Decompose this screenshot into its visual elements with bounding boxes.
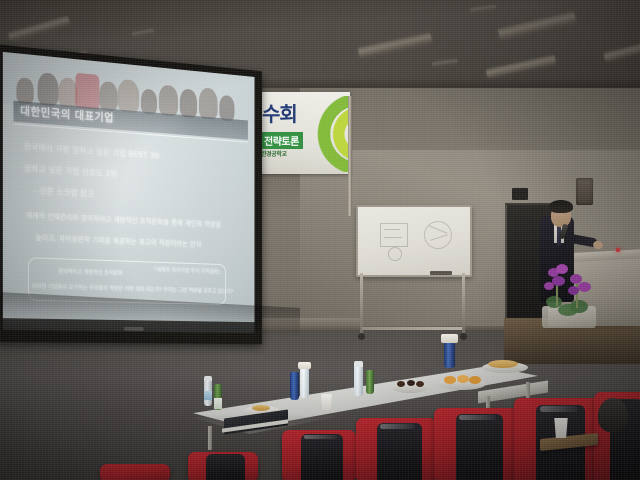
ceiling-light-fixture [486, 55, 556, 78]
slide-body-line: 높이고, 자아실현적 기회를 제공하는 최고의 직장이라는 인식 [36, 233, 202, 250]
seat-highlight [380, 424, 415, 428]
slide-body-line: - 신문 스크랩 참고 [34, 185, 94, 199]
ceiling-light-fixture [432, 58, 458, 67]
water-bottle [300, 368, 309, 398]
chocolate-food [416, 381, 424, 387]
fruit-food [457, 375, 469, 383]
bottle-label [214, 398, 222, 409]
seated-person [598, 398, 628, 432]
seat-headrest [377, 423, 422, 480]
auditorium-seat[interactable] [282, 430, 356, 480]
whiteboard-caster [460, 333, 467, 340]
seat-headrest [301, 434, 342, 480]
slide-body-line: 한국에서 가장 일하고 싶은 기업 BEST 30 [24, 141, 159, 161]
chocolate-food [397, 381, 405, 387]
blue-label-can [290, 372, 299, 400]
ceiling-light-fixture [8, 16, 70, 42]
water-bottle [354, 366, 363, 396]
banner-subtitle: 전략토론 [260, 132, 303, 149]
fruit-food [469, 376, 481, 384]
wall-vent-icon [512, 188, 528, 200]
whiteboard-crossbar [362, 327, 462, 330]
cup-lid [441, 334, 458, 343]
bottle-cap [354, 361, 363, 367]
seat-highlight [459, 415, 496, 420]
slide-body-line: 체계적 인재관리와 창의적이고 개방적인 조직문화를 통해 개인의 역량을 [26, 211, 221, 230]
event-banner: 수회 전략토론 한경공학교 [258, 92, 350, 174]
ceiling-light-fixture [604, 43, 640, 61]
banner-organization: 한경공학교 [261, 149, 287, 158]
table-leg [208, 426, 212, 450]
wall-speaker-icon [576, 178, 593, 205]
slide-body-line: 일하고 싶은 기업 선호도 1위 [24, 163, 117, 180]
whiteboard-leg [462, 273, 465, 335]
seat-highlight [304, 435, 337, 439]
ceiling-light-fixture [470, 4, 496, 13]
seat-headrest [206, 454, 245, 480]
whiteboard-stand [352, 205, 474, 347]
seat-headrest [456, 414, 503, 480]
auditorium-seat[interactable] [100, 464, 170, 480]
auditorium-seat[interactable] [356, 418, 436, 480]
chips-food [488, 360, 518, 368]
ceiling-light-fixture [498, 11, 576, 39]
flower-arrangement [536, 258, 602, 328]
seat-highlight [540, 406, 578, 412]
whiteboard-leg [360, 273, 363, 335]
chips-food [252, 405, 270, 411]
bottle-label [204, 391, 212, 400]
seat-back [100, 464, 170, 480]
whiteboard-marker-tray [430, 271, 452, 275]
speaker-hair [549, 200, 573, 213]
blue-label-can [444, 342, 455, 368]
whiteboard-caster [358, 333, 365, 340]
lecture-hall-photo: 수회 전략토론 한경공학교 [0, 0, 640, 480]
ceiling-light-fixture [132, 28, 155, 37]
projected-slide: 대한민국의 대표기업 한국에서 가장 일하고 싶은 기업 BEST 30 일하고… [3, 52, 255, 333]
banner-swoosh-graphic [300, 96, 350, 172]
podium-indicator-light [616, 248, 620, 252]
auditorium-seat[interactable] [434, 408, 518, 480]
green-glass-bottle [366, 370, 374, 394]
bottle-cap [204, 376, 212, 381]
fruit-food [444, 376, 456, 384]
whiteboard[interactable] [356, 205, 472, 277]
ceiling-light-fixture [358, 32, 432, 57]
auditorium-seat[interactable] [188, 452, 258, 480]
banner-title: 수회 [262, 104, 297, 124]
banner-pole [348, 96, 352, 216]
bottle-cap [298, 362, 311, 369]
chocolate-food [407, 380, 415, 386]
